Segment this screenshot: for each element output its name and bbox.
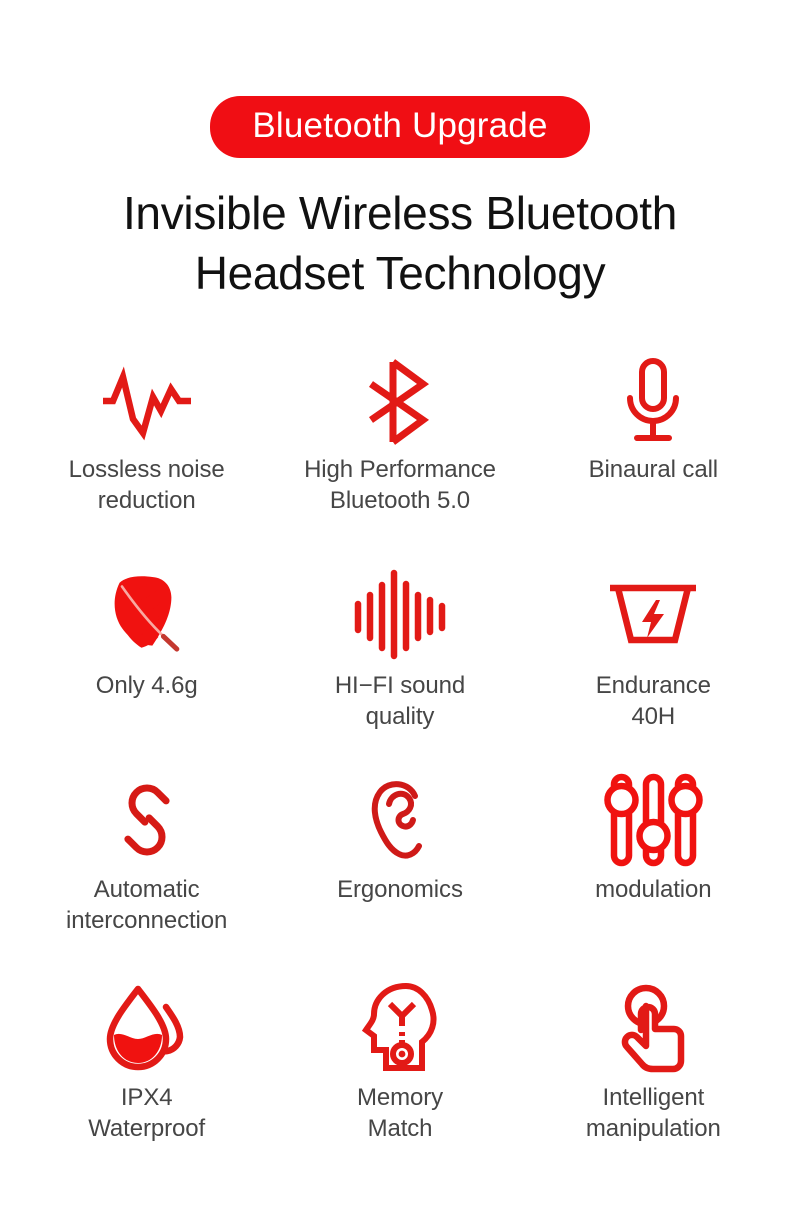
header: Bluetooth Upgrade Invisible Wireless Blu… (0, 0, 800, 304)
feature-label: Binaural call (589, 454, 718, 485)
sound-bars-icon (352, 560, 448, 668)
feature-label: Endurance 40H (596, 670, 711, 733)
feature-item-modulation: modulation (527, 768, 780, 976)
feature-label: modulation (595, 874, 711, 905)
product-feature-infographic: Bluetooth Upgrade Invisible Wireless Blu… (0, 0, 800, 1207)
feature-label: Lossless noise reduction (69, 454, 225, 517)
feature-item-binaural-call: Binaural call (527, 352, 780, 560)
page-title-line-2: Headset Technology (40, 244, 760, 304)
feature-label: IPX4 Waterproof (88, 1082, 205, 1145)
waveform-icon (99, 352, 195, 452)
feature-item-only-4-6g: Only 4.6g (20, 560, 273, 768)
feature-grid: Lossless noise reduction High Performanc… (0, 352, 800, 1184)
badge-bluetooth-upgrade: Bluetooth Upgrade (210, 96, 589, 158)
feature-label: Intelligent manipulation (586, 1082, 721, 1145)
feature-item-lossless-noise-reduction: Lossless noise reduction (20, 352, 273, 560)
battery-charge-icon (604, 560, 702, 668)
feature-label: Ergonomics (337, 874, 463, 905)
feature-item-hifi-sound-quality: HI−FI sound quality (273, 560, 526, 768)
feature-label: HI−FI sound quality (335, 670, 465, 733)
feature-item-ipx4-waterproof: IPX4 Waterproof (20, 976, 273, 1184)
head-memory-icon (360, 976, 440, 1080)
tap-hand-icon (611, 976, 695, 1080)
feature-item-memory-match: Memory Match (273, 976, 526, 1184)
feature-item-endurance-40h: Endurance 40H (527, 560, 780, 768)
feature-label: Automatic interconnection (66, 874, 227, 937)
feature-item-high-performance-bluetooth: High Performance Bluetooth 5.0 (273, 352, 526, 560)
page-title: Invisible Wireless Bluetooth Headset Tec… (0, 184, 800, 304)
water-drops-icon (100, 976, 194, 1080)
sliders-icon (606, 768, 700, 872)
feature-label: High Performance Bluetooth 5.0 (304, 454, 496, 517)
feature-label: Only 4.6g (96, 670, 198, 701)
feature-item-ergonomics: Ergonomics (273, 768, 526, 976)
feature-label: Memory Match (357, 1082, 443, 1145)
feature-item-automatic-interconnection: Automatic interconnection (20, 768, 273, 976)
bluetooth-icon (363, 352, 437, 452)
ear-icon (365, 768, 435, 872)
microphone-icon (620, 352, 686, 452)
chain-link-icon (104, 768, 190, 872)
feather-icon (101, 560, 193, 668)
page-title-line-1: Invisible Wireless Bluetooth (40, 184, 760, 244)
feature-item-intelligent-manipulation: Intelligent manipulation (527, 976, 780, 1184)
